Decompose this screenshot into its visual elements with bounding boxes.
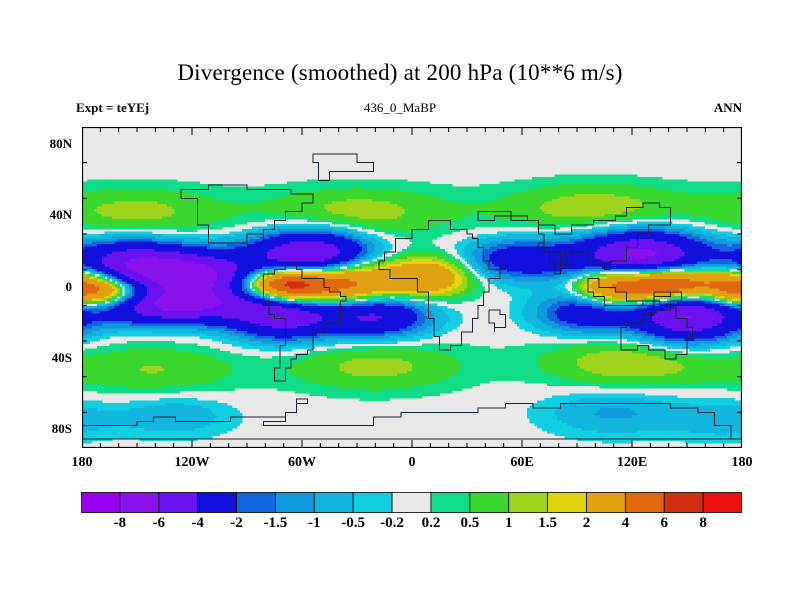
y-tick-label: 0 [30,279,72,295]
colorbar [81,492,742,513]
x-tick-label: 180 [47,455,117,471]
y-tick-label: 80N [30,136,72,152]
y-tick-label: 40S [30,350,72,366]
colorbar-cell[interactable] [548,493,587,513]
colorbar-cell[interactable] [509,493,548,513]
colorbar-cell[interactable] [275,493,314,513]
colorbar-cell[interactable] [353,493,392,513]
page-title: Divergence (smoothed) at 200 hPa (10**6 … [0,60,800,86]
colorbar-cell[interactable] [431,493,470,513]
x-tick-label: 60E [487,455,557,471]
y-tick-label: 80S [30,421,72,437]
y-tick-label: 40N [30,207,72,223]
colorbar-cell[interactable] [586,493,625,513]
colorbar-swatches [81,492,742,513]
figure-root: Divergence (smoothed) at 200 hPa (10**6 … [0,0,800,600]
colorbar-cell[interactable] [81,493,120,513]
colorbar-cell[interactable] [120,493,159,513]
colorbar-cell[interactable] [703,493,742,513]
x-tick-label: 0 [377,455,447,471]
colorbar-tick-label: 8 [680,515,726,532]
colorbar-cell[interactable] [159,493,198,513]
x-tick-label: 60W [267,455,337,471]
colorbar-cell[interactable] [664,493,703,513]
colorbar-cell[interactable] [237,493,276,513]
map-plot-area [82,127,742,448]
colorbar-cell[interactable] [470,493,509,513]
x-tick-label: 120W [157,455,227,471]
colorbar-cell[interactable] [198,493,237,513]
colorbar-cell[interactable] [392,493,431,513]
x-tick-label: 120E [597,455,667,471]
colorbar-cell[interactable] [314,493,353,513]
colorbar-cell[interactable] [625,493,664,513]
season-label: ANN [0,100,800,116]
x-tick-label: 180 [707,455,777,471]
divergence-contour-map [82,127,742,448]
